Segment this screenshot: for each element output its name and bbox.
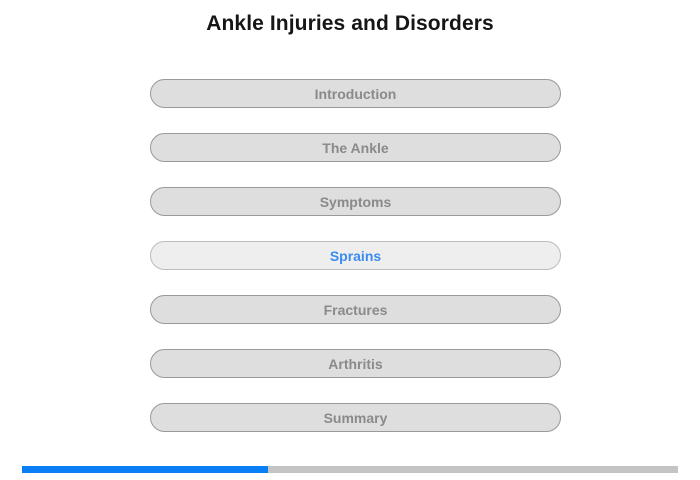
menu-item-the-ankle[interactable]: The Ankle: [150, 133, 561, 162]
progress-bar-track[interactable]: [22, 466, 678, 473]
menu-item-label: Introduction: [315, 86, 397, 102]
progress-bar-fill: [22, 466, 268, 473]
menu-item-label: Symptoms: [320, 194, 392, 210]
menu-item-label: Summary: [324, 410, 388, 426]
menu-item-label: Fractures: [324, 302, 388, 318]
menu-item-label: Arthritis: [328, 356, 382, 372]
menu-item-symptoms[interactable]: Symptoms: [150, 187, 561, 216]
menu-item-fractures[interactable]: Fractures: [150, 295, 561, 324]
menu-item-label: Sprains: [330, 248, 381, 264]
menu-item-summary[interactable]: Summary: [150, 403, 561, 432]
slide-canvas: Ankle Injuries and Disorders Introductio…: [0, 0, 700, 480]
page-title: Ankle Injuries and Disorders: [0, 10, 700, 38]
menu-item-arthritis[interactable]: Arthritis: [150, 349, 561, 378]
menu-item-sprains[interactable]: Sprains: [150, 241, 561, 270]
topic-menu-list: IntroductionThe AnkleSymptomsSprainsFrac…: [150, 79, 561, 432]
menu-item-introduction[interactable]: Introduction: [150, 79, 561, 108]
menu-item-label: The Ankle: [322, 140, 388, 156]
